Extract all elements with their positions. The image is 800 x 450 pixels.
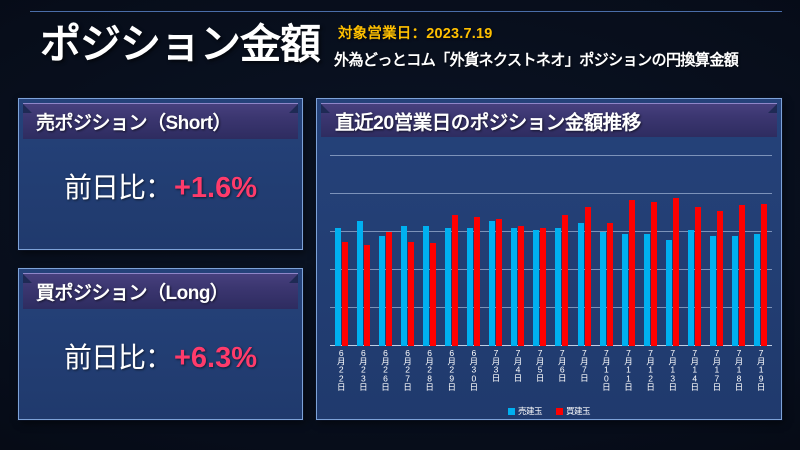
legend-label: 売建玉 <box>518 405 542 417</box>
x-axis-label-cell: 7月5日 <box>529 348 551 400</box>
bar-long <box>364 245 370 346</box>
x-axis-label: 6月22日 <box>337 348 346 400</box>
bar-short <box>578 223 584 347</box>
legend-swatch <box>508 408 515 415</box>
bar-long <box>607 223 613 347</box>
bar-group <box>551 156 573 346</box>
bar-short <box>688 230 694 346</box>
x-axis-label-cell: 7月3日 <box>485 348 507 400</box>
bar-group <box>573 156 595 346</box>
long-stat-row: 前日比： +6.3% <box>64 336 257 376</box>
bar-group <box>352 156 374 346</box>
bar-short <box>754 234 760 346</box>
bar-short <box>600 232 606 346</box>
bar-long <box>452 215 458 346</box>
x-axis-label-cell: 7月13日 <box>661 348 683 400</box>
x-axis-label: 6月27日 <box>403 348 412 400</box>
short-position-panel: 売ポジション（Short） 前日比： +1.6% <box>18 98 303 250</box>
bar-long <box>342 242 348 347</box>
x-axis-label: 7月11日 <box>624 348 633 400</box>
x-axis-label-cell: 7月11日 <box>617 348 639 400</box>
bar-group <box>396 156 418 346</box>
bar-short <box>357 221 363 346</box>
x-axis-label-cell: 7月18日 <box>728 348 750 400</box>
chart-panel-header: 直近20営業日のポジション金額推移 <box>321 103 777 137</box>
bar-group <box>684 156 706 346</box>
x-axis-label: 7月6日 <box>558 348 567 400</box>
bar-short <box>732 236 738 346</box>
x-axis-label-cell: 6月26日 <box>374 348 396 400</box>
bar-group <box>440 156 462 346</box>
x-axis-label: 7月17日 <box>712 348 721 400</box>
bar-short <box>467 228 473 346</box>
bar-long <box>739 205 745 346</box>
target-date-label: 対象営業日：2023.7.19 <box>338 22 751 43</box>
legend-swatch <box>556 408 563 415</box>
x-axis-label-cell: 6月27日 <box>396 348 418 400</box>
x-axis-label: 7月10日 <box>602 348 611 400</box>
x-axis-label: 7月3日 <box>491 348 500 400</box>
bar-long <box>761 204 767 347</box>
long-panel-body: 前日比： +6.3% <box>19 309 302 417</box>
bar-short <box>379 236 385 346</box>
bar-group <box>507 156 529 346</box>
legend-item: 買建玉 <box>556 405 590 417</box>
bar-short <box>423 226 429 346</box>
short-panel-body: 前日比： +1.6% <box>19 139 302 247</box>
bar-long <box>629 200 635 346</box>
bar-long <box>651 202 657 346</box>
bar-long <box>695 207 701 346</box>
title-meta: 対象営業日：2023.7.19 外為どっとコム「外貨ネクストネオ」ポジションの円… <box>334 20 751 70</box>
bar-short <box>555 228 561 346</box>
bar-long <box>540 228 546 346</box>
chart-legend: 売建玉買建玉 <box>322 405 776 417</box>
x-axis-label-cell: 7月10日 <box>595 348 617 400</box>
bar-group <box>617 156 639 346</box>
plot-region <box>330 156 772 346</box>
short-stat-label: 前日比： <box>64 166 172 206</box>
bar-group <box>728 156 750 346</box>
bar-group <box>529 156 551 346</box>
x-axis-labels: 6月22日6月23日6月26日6月27日6月28日6月29日6月30日7月3日7… <box>330 348 772 400</box>
legend-label: 買建玉 <box>566 405 590 417</box>
short-panel-title: 売ポジション（Short） <box>36 108 231 135</box>
bar-short <box>401 226 407 346</box>
bar-short <box>335 228 341 346</box>
legend-item: 売建玉 <box>508 405 542 417</box>
bar-group <box>374 156 396 346</box>
x-axis-label: 7月12日 <box>646 348 655 400</box>
bar-short <box>511 228 517 346</box>
bar-long <box>562 215 568 346</box>
bar-group <box>661 156 683 346</box>
x-axis-label: 7月19日 <box>757 348 766 400</box>
long-stat-value: +6.3% <box>174 342 257 375</box>
x-axis-label-cell: 6月30日 <box>463 348 485 400</box>
x-axis-label-cell: 6月29日 <box>440 348 462 400</box>
bar-short <box>533 230 539 346</box>
bar-group <box>595 156 617 346</box>
subtitle: 外為どっとコム「外貨ネクストネオ」ポジションの円換算金額 <box>334 48 738 70</box>
x-axis-label: 6月23日 <box>359 348 368 400</box>
short-stat-value: +1.6% <box>174 172 257 205</box>
position-trend-chart-panel: 直近20営業日のポジション金額推移 6月22日6月23日6月26日6月27日6月… <box>316 98 782 420</box>
bar-series-container <box>330 156 772 346</box>
short-stat-row: 前日比： +1.6% <box>64 166 257 206</box>
long-position-panel: 買ポジション（Long） 前日比： +6.3% <box>18 268 303 420</box>
x-axis-label-cell: 7月4日 <box>507 348 529 400</box>
long-stat-label: 前日比： <box>64 336 172 376</box>
x-axis-label: 7月18日 <box>734 348 743 400</box>
chart-panel-title: 直近20営業日のポジション金額推移 <box>335 106 641 135</box>
x-axis-label-cell: 6月22日 <box>330 348 352 400</box>
bar-long <box>496 219 502 346</box>
bar-group <box>418 156 440 346</box>
bar-short <box>489 221 495 346</box>
bar-long <box>717 211 723 346</box>
bar-short <box>710 236 716 346</box>
long-panel-header: 買ポジション（Long） <box>23 273 298 309</box>
x-axis-label: 7月7日 <box>580 348 589 400</box>
bar-group <box>750 156 772 346</box>
bar-short <box>445 228 451 346</box>
bar-short <box>644 234 650 346</box>
x-axis-label: 7月13日 <box>668 348 677 400</box>
x-axis-label-cell: 7月14日 <box>684 348 706 400</box>
x-axis-label: 7月5日 <box>536 348 545 400</box>
bar-long <box>408 242 414 347</box>
x-axis-label-cell: 6月28日 <box>418 348 440 400</box>
bar-group <box>706 156 728 346</box>
bar-group <box>463 156 485 346</box>
chart-area: 6月22日6月23日6月26日6月27日6月28日6月29日6月30日7月3日7… <box>322 143 776 415</box>
long-panel-title: 買ポジション（Long） <box>36 278 228 305</box>
bar-short <box>666 240 672 346</box>
page-title: ポジション金額 <box>40 24 320 65</box>
bar-group <box>330 156 352 346</box>
title-bar: ポジション金額 対象営業日：2023.7.19 外為どっとコム「外貨ネクストネオ… <box>30 11 782 77</box>
slide-root: ポジション金額 対象営業日：2023.7.19 外為どっとコム「外貨ネクストネオ… <box>0 0 800 450</box>
x-axis-label-cell: 7月6日 <box>551 348 573 400</box>
bar-long <box>430 243 436 346</box>
bar-long <box>386 232 392 346</box>
x-axis-label: 7月4日 <box>514 348 523 400</box>
bar-long <box>585 207 591 346</box>
x-axis-label-cell: 7月19日 <box>750 348 772 400</box>
bar-long <box>518 226 524 346</box>
x-axis-label: 6月26日 <box>381 348 390 400</box>
short-panel-header: 売ポジション（Short） <box>23 103 298 139</box>
bar-long <box>474 217 480 346</box>
x-axis-label-cell: 7月7日 <box>573 348 595 400</box>
bar-long <box>673 198 679 346</box>
x-axis-label: 6月28日 <box>425 348 434 400</box>
x-axis-label: 6月29日 <box>447 348 456 400</box>
x-axis-label: 6月30日 <box>469 348 478 400</box>
bar-group <box>485 156 507 346</box>
x-axis-label: 7月14日 <box>690 348 699 400</box>
x-axis-label-cell: 6月23日 <box>352 348 374 400</box>
bar-short <box>622 234 628 346</box>
x-axis-label-cell: 7月12日 <box>639 348 661 400</box>
x-axis-label-cell: 7月17日 <box>706 348 728 400</box>
bar-group <box>639 156 661 346</box>
